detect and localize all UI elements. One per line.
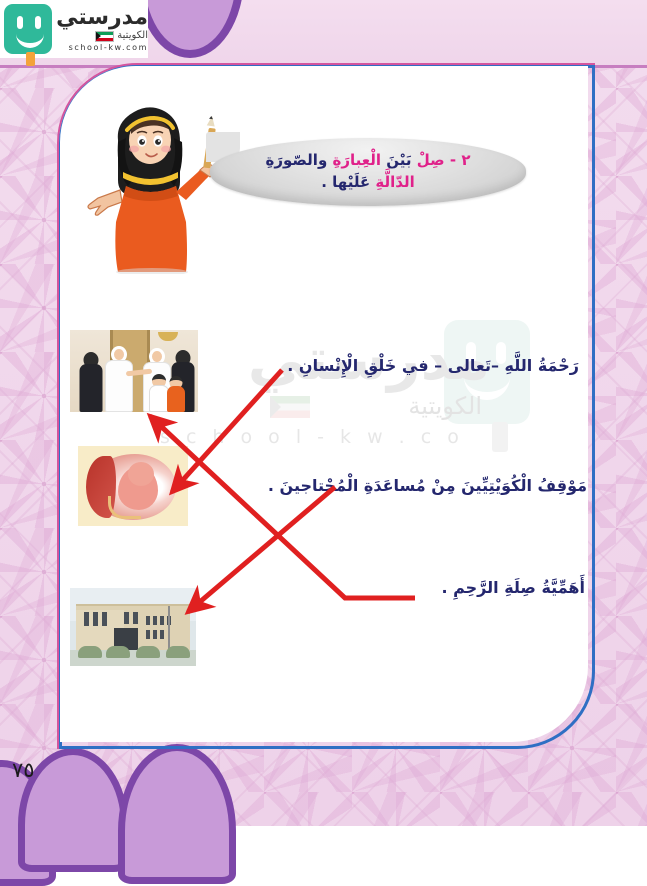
window (153, 630, 157, 639)
window (93, 612, 98, 626)
picture-fetus-in-womb[interactable] (78, 446, 188, 526)
instruction-speech-bubble: ٢ - صِلْ بَيْنَ الْعِبارَةِ والصّورَةِ ا… (210, 138, 526, 206)
bush (78, 646, 102, 658)
child-orange (166, 376, 186, 412)
bush (136, 646, 160, 658)
window (146, 616, 150, 625)
window (84, 612, 89, 626)
site-logo: مدرستي الكويتية school-kw.com (0, 0, 148, 58)
instruction-part-3: الْعِبارَةِ (333, 151, 382, 169)
logo-name: مدرستي (56, 7, 148, 29)
statement-2[interactable]: مَوْقِفُ الْكُوَيْتِيِّينَ مِنْ مُساعَدَ… (268, 476, 587, 495)
window (153, 616, 157, 625)
logo-subtitle: الكويتية (117, 31, 148, 41)
picture-charity-building[interactable] (70, 588, 196, 666)
woman-abaya-left (78, 352, 104, 412)
instruction-part-4: والصّورَةِ (266, 151, 328, 169)
logo-url: school-kw.com (69, 44, 148, 52)
man-thobe-left (104, 346, 134, 412)
instruction-part-2: بَيْنَ (386, 151, 411, 169)
statement-3[interactable]: أَهَمِّيَّةُ صِلَةِ الرَّحِمِ . (441, 578, 585, 597)
instruction-number: ٢ - (450, 151, 471, 169)
picture-family-greeting[interactable] (70, 330, 198, 412)
bush (106, 646, 130, 658)
instruction-part-1: صِلْ (417, 151, 445, 169)
window (124, 612, 129, 624)
instruction-text: ٢ - صِلْ بَيْنَ الْعِبارَةِ والصّورَةِ ا… (248, 150, 489, 194)
window (146, 630, 150, 639)
window (102, 612, 107, 626)
kuwait-flag-icon (95, 31, 114, 42)
instruction-part-6: عَلَيْها . (321, 173, 370, 191)
bush (166, 646, 190, 658)
smiley-popsicle-logo-icon (4, 4, 52, 54)
window (160, 630, 164, 639)
instruction-part-5: الدّالَّةِ (375, 173, 414, 191)
teacher-character (82, 86, 222, 274)
window (160, 616, 164, 625)
fetus-head (128, 462, 154, 486)
page-number: ٧٥ (12, 758, 35, 782)
window (133, 612, 138, 624)
statement-1[interactable]: رَحْمَةُ اللَّهِ –تَعالى – في خَلْقِ الْ… (287, 356, 579, 375)
